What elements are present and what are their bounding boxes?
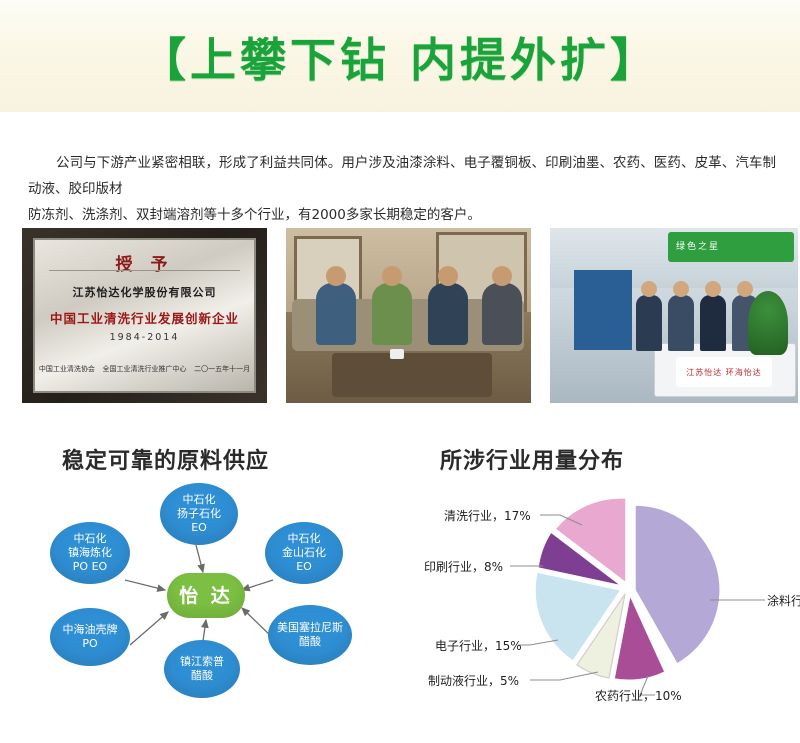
person-4: [482, 283, 522, 345]
plaque-award-word: 授 予: [116, 250, 174, 275]
supplier-label: 美国塞拉尼斯醋酸: [277, 621, 343, 649]
booth-standee: [574, 270, 632, 350]
plaque-frame: 授 予 江苏怡达化学股份有限公司 中国工业清洗行业发展创新企业 1984-201…: [22, 228, 267, 403]
plaque-footer: 中国工业清洗协会 全国工业清洗行业推广中心 二〇一五年十一月: [35, 364, 254, 375]
visitor-2: [668, 295, 694, 351]
person-1: [316, 283, 356, 345]
supplier-node-zhenjiang-suopu: 镇江索普醋酸: [164, 640, 240, 698]
person-head-icon: [492, 266, 512, 286]
page-title: 【上攀下钻 内提外扩】: [0, 24, 800, 90]
plaque-years: 1984-2014: [110, 332, 180, 343]
person-head-icon: [438, 266, 458, 286]
plant-icon: [748, 291, 788, 355]
pie-label-electronics: 电子行业，15%: [435, 637, 522, 654]
supplier-node-sinopec-zhenhai: 中石化镇海炼化PO EO: [50, 522, 130, 584]
meeting-photo: [286, 228, 531, 403]
person-head-icon: [673, 281, 689, 297]
award-plaque-photo: 授 予 江苏怡达化学股份有限公司 中国工业清洗行业发展创新企业 1984-201…: [22, 228, 267, 403]
person-3: [428, 283, 468, 345]
coffee-table: [332, 353, 492, 397]
intro-line-1: 公司与下游产业紧密相联，形成了利益共同体。用户涉及油漆涂料、电子覆铜板、印刷油墨…: [28, 150, 776, 202]
pie-label-pesticide: 农药行业，10%: [595, 687, 682, 704]
plaque-honor: 中国工业清洗行业发展创新企业: [50, 308, 239, 327]
visitor-1: [636, 295, 662, 351]
person-head-icon: [326, 266, 346, 286]
intro-paragraph: 公司与下游产业紧密相联，形成了利益共同体。用户涉及油漆涂料、电子覆铜板、印刷油墨…: [28, 150, 776, 228]
exhibition-booth-photo: 绿色之星 江苏怡达 环海怡达: [550, 228, 798, 403]
supplier-node-sinopec-yangzi: 中石化扬子石化EO: [160, 483, 238, 545]
pie-label-printing: 印刷行业，8%: [424, 558, 503, 575]
person-2: [372, 283, 412, 345]
plaque-footer-left: 中国工业清洗协会: [39, 364, 95, 375]
supplier-label: 中石化镇海炼化PO EO: [68, 532, 112, 574]
booth-green-banner: 绿色之星: [668, 232, 794, 262]
plaque-footer-mid: 全国工业清洗行业推广中心: [102, 364, 186, 375]
pie-label-cleaning: 清洗行业，17%: [444, 507, 531, 524]
supply-chain-diagram: 怡 达 中石化扬子石化EO 中石化金山石化EO 中石化镇海炼化PO EO 中海油…: [20, 480, 400, 720]
booth-banner-text: 绿色之星: [668, 242, 720, 252]
pie-label-coating: 涂料行业，45%: [767, 592, 800, 609]
cup-icon: [390, 349, 404, 359]
visitor-3: [700, 295, 726, 351]
booth-logo: 江苏怡达 环海怡达: [676, 357, 772, 387]
supplier-label: 中石化金山石化EO: [282, 532, 326, 574]
page-header: 【上攀下钻 内提外扩】: [0, 0, 800, 112]
person-head-icon: [382, 266, 402, 286]
supplier-label: 镇江索普醋酸: [180, 655, 224, 683]
supply-section-title: 稳定可靠的原料供应: [62, 443, 269, 475]
supplier-node-cnooc-shell: 中海油壳牌PO: [50, 608, 130, 666]
pie-label-brakefluid: 制动液行业，5%: [428, 672, 519, 689]
person-head-icon: [737, 281, 753, 297]
booth-logo-text: 江苏怡达 环海怡达: [686, 367, 762, 378]
supply-center-node: 怡 达: [167, 573, 245, 618]
person-head-icon: [705, 281, 721, 297]
supplier-node-celanese: 美国塞拉尼斯醋酸: [268, 605, 352, 665]
photo-strip: 授 予 江苏怡达化学股份有限公司 中国工业清洗行业发展创新企业 1984-201…: [22, 228, 778, 403]
supplier-node-sinopec-jinshan: 中石化金山石化EO: [265, 522, 343, 584]
supplier-label: 中石化扬子石化EO: [177, 493, 221, 535]
booth-scene: 绿色之星 江苏怡达 环海怡达: [550, 228, 798, 403]
supplier-label: 中海油壳牌PO: [63, 623, 118, 651]
meeting-scene: [286, 228, 531, 403]
industry-pie-chart: 涂料行业，45% 农药行业，10% 制动液行业，5% 电子行业，15% 印刷行业…: [410, 480, 800, 725]
plaque-company: 江苏怡达化学股份有限公司: [73, 284, 217, 300]
leader-brakefluid: [530, 672, 598, 680]
plaque-footer-right: 二〇一五年十一月: [194, 364, 250, 375]
plaque-plate: 授 予 江苏怡达化学股份有限公司 中国工业清洗行业发展创新企业 1984-201…: [33, 238, 256, 393]
intro-line-2: 防冻剂、洗涤剂、双封端溶剂等十多个行业，有2000多家长期稳定的客户。: [28, 202, 776, 228]
industry-section-title: 所涉行业用量分布: [440, 443, 624, 475]
plaque-divider: [49, 270, 240, 271]
person-head-icon: [641, 281, 657, 297]
